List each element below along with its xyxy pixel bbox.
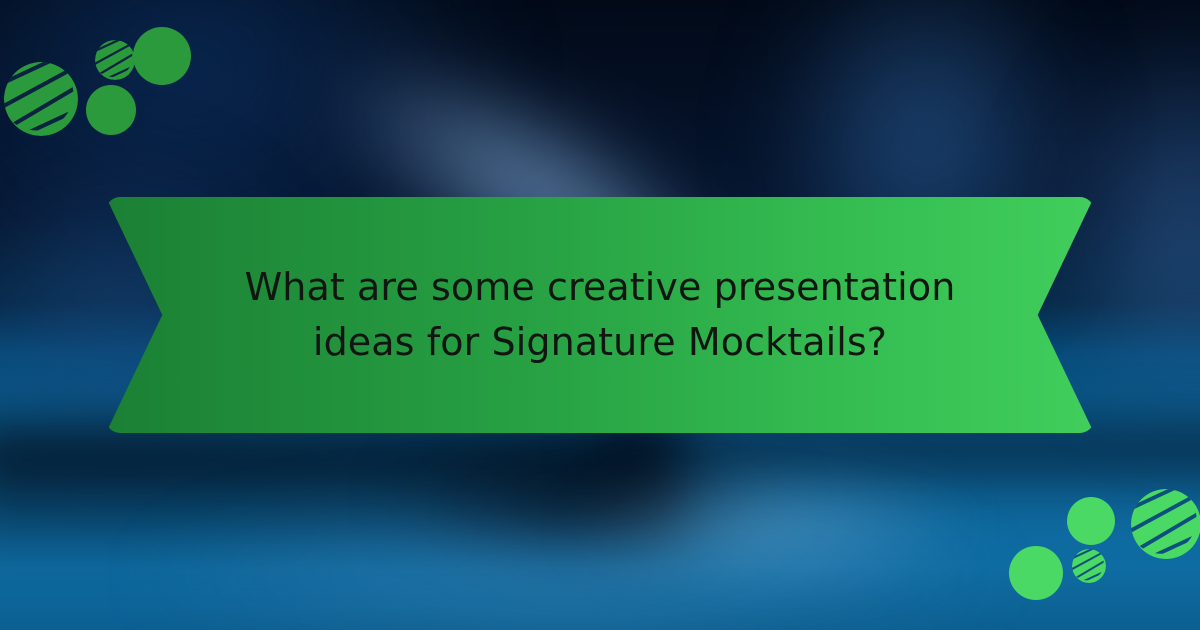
circle-solid-medium: [1009, 546, 1063, 600]
question-title: What are some creative presentation idea…: [200, 260, 1000, 371]
circle-solid-large: [133, 27, 191, 85]
circle-striped-large: [1131, 489, 1200, 559]
circle-solid-medium: [86, 85, 136, 135]
circle-striped-large: [4, 62, 78, 136]
share-card: What are some creative presentation idea…: [0, 0, 1200, 630]
question-ribbon-banner: What are some creative presentation idea…: [106, 197, 1094, 433]
circle-solid-large: [1067, 497, 1115, 545]
circle-striped-small: [95, 40, 135, 80]
circle-striped-small: [1072, 549, 1106, 583]
ribbon-content: What are some creative presentation idea…: [200, 260, 1000, 371]
background-lower-glow-bright: [560, 470, 980, 580]
